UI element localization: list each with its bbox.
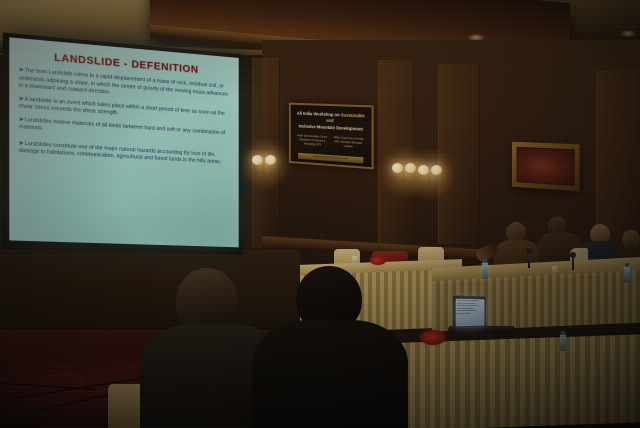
framed-artwork [512, 142, 580, 192]
ceiling-downlight [620, 30, 636, 37]
banner-line-1-text: All India Workshop on [297, 111, 340, 118]
microphone-head [570, 252, 576, 258]
audience-torso [252, 320, 408, 428]
drinking-glass [552, 266, 557, 274]
water-bottle [482, 262, 488, 279]
bottle-cap [561, 331, 565, 335]
microphone-head [526, 248, 532, 254]
banner-left-org-2: Department of Science & Technology, GOI [296, 138, 328, 148]
laptop-lid [453, 295, 486, 328]
sconce-bulb [265, 155, 276, 165]
screen-text-line [456, 305, 478, 306]
projection-screen: LANDSLIDE - DEFENITION ➤The term Landsli… [9, 37, 238, 247]
audience-member-right [266, 266, 426, 428]
slide-bullet-text: Landslides constitute one of the major n… [19, 140, 222, 165]
bullet-marker: ➤ [19, 67, 24, 74]
microphone [572, 256, 574, 270]
flower-arrangement [370, 256, 386, 265]
bullet-marker: ➤ [19, 140, 24, 146]
conference-room-photo: LANDSLIDE - DEFENITION ➤The term Landsli… [0, 0, 640, 428]
water-bottle [624, 266, 630, 283]
sconce-glow [236, 138, 294, 190]
wall-sconce-left [252, 152, 278, 174]
bullet-marker: ➤ [19, 116, 24, 123]
artwork-canvas [517, 147, 575, 186]
bullet-marker: ➤ [19, 96, 24, 103]
event-banner: All India Workshop on Sustainable and In… [289, 103, 374, 170]
water-bottle [560, 334, 566, 351]
sconce-glow [402, 148, 460, 200]
banner-right-column: NIDM, Government of India IIRS, Dehradun… [331, 136, 365, 150]
bottle-cap [625, 263, 629, 267]
slide-bullet: ➤Landslides constitute one of the major … [19, 140, 231, 167]
banner-footer: Organised at the Conference Hall [298, 153, 363, 164]
screen-text-line [456, 313, 470, 314]
sconce-stem [428, 173, 431, 185]
drinking-glass [352, 256, 357, 264]
wall-panel [596, 70, 640, 244]
microphone [528, 252, 530, 268]
screen-text-line [456, 302, 475, 303]
screen-text-line [456, 310, 476, 311]
screen-text-line [456, 300, 479, 302]
bottle-cap [483, 259, 487, 263]
sconce-stem [262, 163, 265, 175]
sconce-bulb [431, 165, 442, 175]
banner-left-column: Major Documentation Centre Department of… [296, 134, 328, 147]
screen-text-line [456, 308, 473, 309]
banner-right-org-2: IIRS, Dehradun Mountain Initiative [331, 140, 365, 150]
laptop-screen [455, 298, 484, 326]
wall-sconce-right [418, 162, 444, 184]
